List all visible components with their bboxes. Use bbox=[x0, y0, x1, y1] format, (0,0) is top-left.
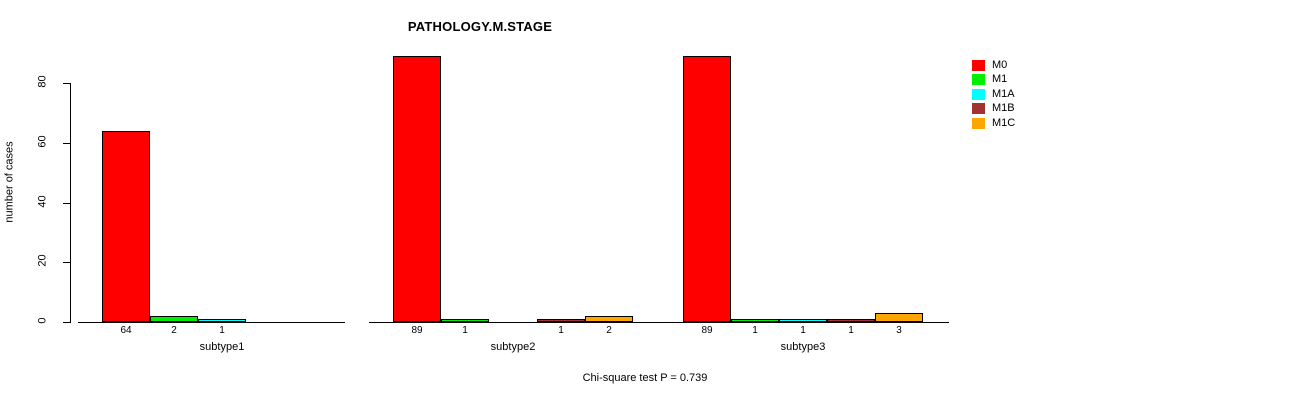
bar-value-label: 89 bbox=[393, 325, 441, 336]
legend-label: M1 bbox=[992, 74, 1007, 85]
bar-value-label: 3 bbox=[875, 325, 923, 336]
legend-item[interactable]: M1B bbox=[972, 102, 1015, 117]
bar[interactable] bbox=[393, 56, 441, 322]
y-axis-tick-label: 20 bbox=[30, 255, 56, 266]
y-axis-tick-value: 40 bbox=[38, 195, 49, 207]
legend-item[interactable]: M1A bbox=[972, 87, 1015, 102]
bar[interactable] bbox=[441, 319, 489, 322]
bar[interactable] bbox=[102, 131, 150, 322]
bar-value-label: 1 bbox=[827, 325, 875, 336]
bar-value-label: 1 bbox=[198, 325, 246, 336]
x-axis-line bbox=[369, 322, 659, 323]
legend-item[interactable]: M1 bbox=[972, 73, 1015, 88]
y-axis-tick-value: 60 bbox=[38, 135, 49, 147]
bar-value-label: 1 bbox=[731, 325, 779, 336]
y-axis-tick-value: 80 bbox=[38, 75, 49, 87]
bar[interactable] bbox=[683, 56, 731, 322]
legend-swatch-m1 bbox=[972, 74, 985, 85]
legend-label: M0 bbox=[992, 60, 1007, 71]
legend-item[interactable]: M0 bbox=[972, 58, 1015, 73]
x-axis-group-label: subtype2 bbox=[393, 341, 633, 353]
legend-swatch-m1b bbox=[972, 103, 985, 114]
legend-label: M1C bbox=[992, 118, 1015, 129]
bar[interactable] bbox=[198, 319, 246, 322]
x-axis-line bbox=[78, 322, 345, 323]
x-axis-group-label: subtype3 bbox=[683, 341, 923, 353]
y-axis-tick bbox=[63, 262, 70, 263]
legend-swatch-m1c bbox=[972, 118, 985, 129]
bar[interactable] bbox=[875, 313, 923, 322]
bar-value-label: 64 bbox=[102, 325, 150, 336]
bar-value-label: 2 bbox=[150, 325, 198, 336]
y-axis-tick-value: 20 bbox=[38, 255, 49, 267]
bar-value-label: 1 bbox=[779, 325, 827, 336]
y-axis-tick-label: 60 bbox=[30, 136, 56, 147]
legend-label: M1A bbox=[992, 89, 1015, 100]
bar-value-label: 89 bbox=[683, 325, 731, 336]
legend-swatch-m1a bbox=[972, 89, 985, 100]
y-axis-tick-label: 80 bbox=[30, 76, 56, 87]
bar-value-label: 2 bbox=[585, 325, 633, 336]
bar-chart: PATHOLOGY.M.STAGE number of cases 020406… bbox=[0, 0, 1290, 400]
plot-area: 020406080 6421subtype189112subtype289111… bbox=[0, 0, 960, 400]
chi-square-annotation: Chi-square test P = 0.739 bbox=[0, 372, 1290, 384]
x-axis-group-label: subtype1 bbox=[102, 341, 342, 353]
y-axis-tick bbox=[63, 203, 70, 204]
bar[interactable] bbox=[537, 319, 585, 322]
y-axis-tick bbox=[63, 322, 70, 323]
y-axis-tick-label: 0 bbox=[30, 315, 56, 326]
bar-value-label: 1 bbox=[441, 325, 489, 336]
legend-item[interactable]: M1C bbox=[972, 116, 1015, 131]
bar[interactable] bbox=[585, 316, 633, 322]
bar[interactable] bbox=[150, 316, 198, 322]
bar[interactable] bbox=[731, 319, 779, 322]
bar[interactable] bbox=[827, 319, 875, 322]
bar[interactable] bbox=[779, 319, 827, 322]
y-axis-tick bbox=[63, 143, 70, 144]
bar-value-label: 1 bbox=[537, 325, 585, 336]
y-axis-tick-label: 40 bbox=[30, 196, 56, 207]
legend-label: M1B bbox=[992, 103, 1015, 114]
x-axis-line bbox=[659, 322, 949, 323]
y-axis-tick-value: 0 bbox=[38, 317, 49, 323]
legend: M0M1M1AM1BM1C bbox=[972, 58, 1015, 131]
legend-swatch-m0 bbox=[972, 60, 985, 71]
y-axis-line bbox=[70, 83, 71, 323]
y-axis-tick bbox=[63, 83, 70, 84]
